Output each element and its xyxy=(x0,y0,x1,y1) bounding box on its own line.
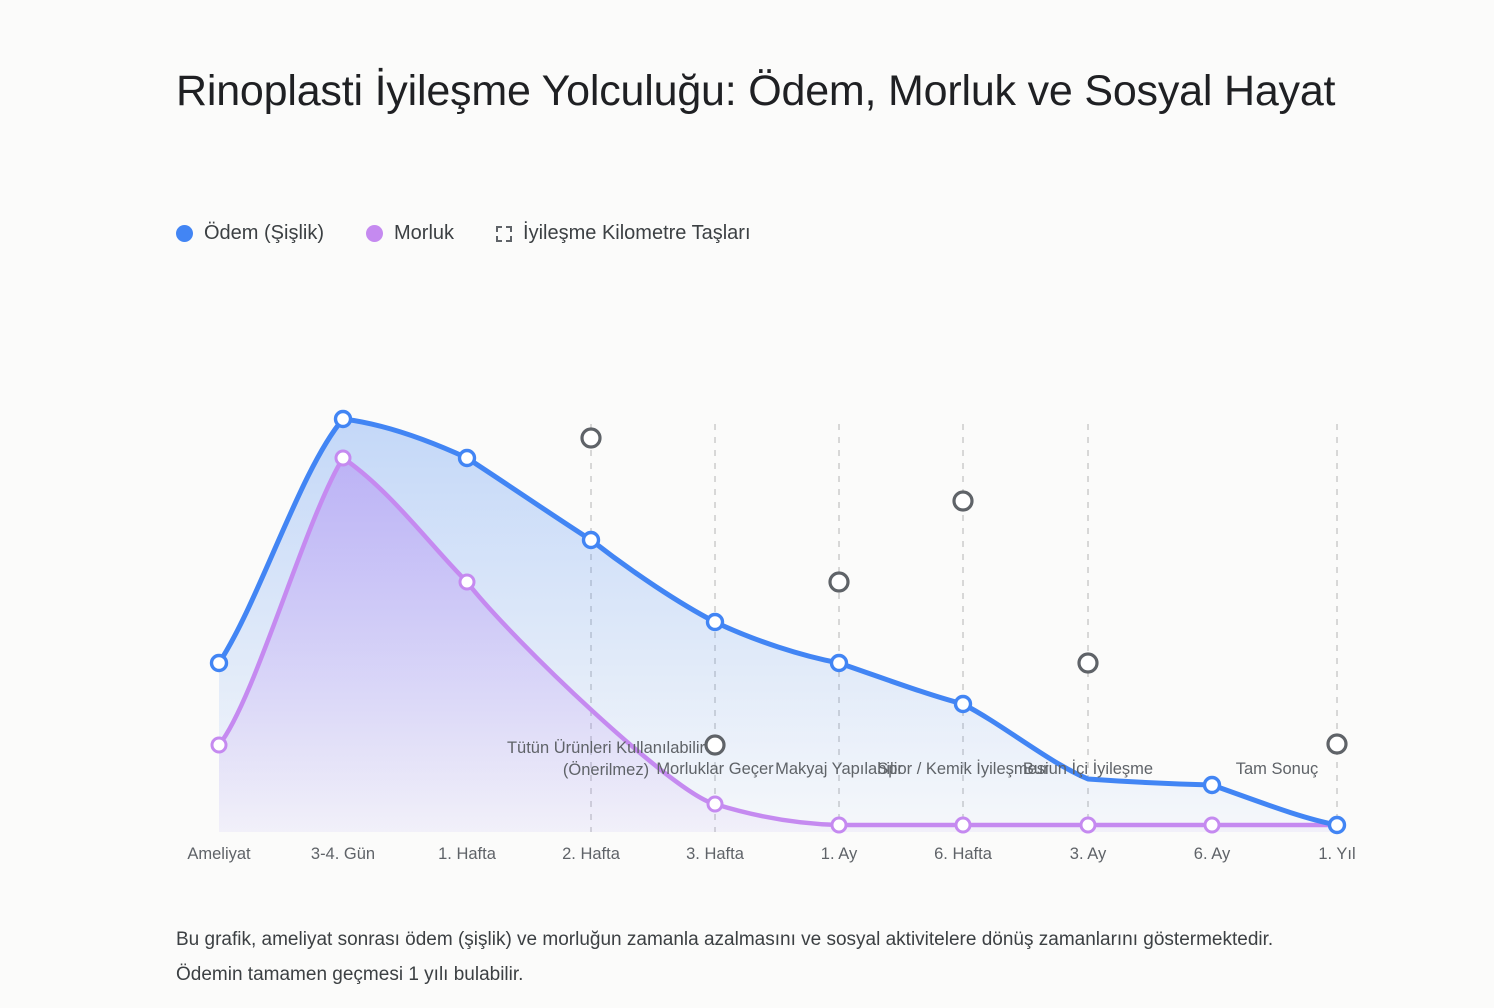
x-tick-3-4-gun: 3-4. Gün xyxy=(311,845,375,864)
point-odem[interactable] xyxy=(832,656,847,671)
point-odem[interactable] xyxy=(336,412,351,427)
point-odem[interactable] xyxy=(584,533,599,548)
milestone-marker[interactable] xyxy=(830,573,848,591)
point-morluk[interactable] xyxy=(1205,818,1219,832)
x-tick-6-ay: 6. Ay xyxy=(1194,845,1230,864)
x-tick-ameliyat: Ameliyat xyxy=(187,845,250,864)
point-morluk[interactable] xyxy=(708,797,722,811)
point-odem[interactable] xyxy=(1330,818,1345,833)
x-tick-1-ay: 1. Ay xyxy=(821,845,857,864)
point-odem[interactable] xyxy=(212,656,227,671)
x-tick-2-hafta: 2. Hafta xyxy=(562,845,620,864)
point-odem[interactable] xyxy=(708,615,723,630)
milestone-marker[interactable] xyxy=(1079,654,1097,672)
point-morluk[interactable] xyxy=(1081,818,1095,832)
chart-caption: Bu grafik, ameliyat sonrası ödem (şişlik… xyxy=(176,922,1316,992)
milestone-label-burun-ici: Burun İçi İyileşme xyxy=(1023,758,1153,780)
point-morluk[interactable] xyxy=(956,818,970,832)
x-tick-1-hafta: 1. Hafta xyxy=(438,845,496,864)
point-morluk[interactable] xyxy=(832,818,846,832)
point-morluk[interactable] xyxy=(336,451,350,465)
milestone-marker[interactable] xyxy=(706,736,724,754)
milestone-marker[interactable] xyxy=(1328,735,1346,753)
milestone-marker[interactable] xyxy=(582,429,600,447)
point-odem[interactable] xyxy=(460,451,475,466)
milestone-marker[interactable] xyxy=(954,492,972,510)
x-tick-6-hafta: 6. Hafta xyxy=(934,845,992,864)
point-morluk[interactable] xyxy=(460,575,474,589)
x-tick-3-ay: 3. Ay xyxy=(1070,845,1106,864)
milestone-label-line1: Tütün Ürünleri Kullanılabilir xyxy=(507,737,705,759)
x-tick-3-hafta: 3. Hafta xyxy=(686,845,744,864)
x-tick-1-yil: 1. Yıl xyxy=(1318,845,1355,864)
chart-plot-area: Tütün Ürünleri Kullanılabilir (Önerilmez… xyxy=(0,0,1494,1008)
point-odem[interactable] xyxy=(1205,778,1220,793)
point-odem[interactable] xyxy=(956,697,971,712)
milestone-label-tam-sonuc: Tam Sonuç xyxy=(1236,758,1319,780)
milestone-label-morluklar-gecer: Morluklar Geçer xyxy=(656,758,773,780)
point-morluk[interactable] xyxy=(212,738,226,752)
chart-page: Rinoplasti İyileşme Yolculuğu: Ödem, Mor… xyxy=(0,0,1494,1008)
